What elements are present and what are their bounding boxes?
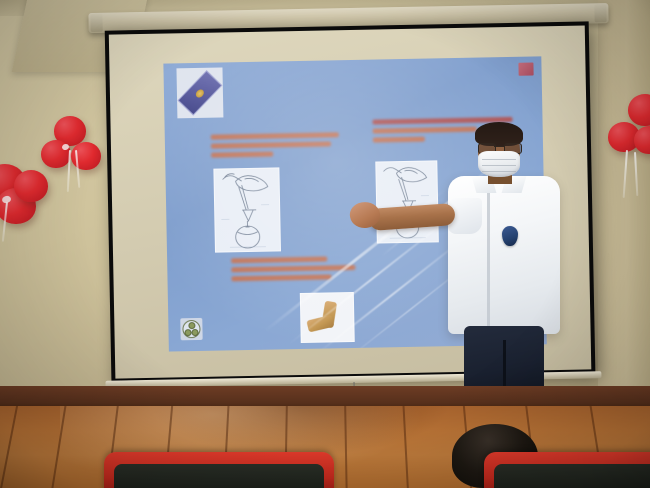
shirt-placket [487, 180, 490, 330]
floor-plank-seam [0, 406, 20, 488]
center-caption-block [231, 256, 355, 285]
chair-seat-back [114, 464, 324, 488]
mask-fold [482, 171, 516, 172]
cork-stoppers-photo [300, 292, 355, 343]
face-mask [478, 151, 520, 177]
text-line [211, 141, 331, 148]
chair-seat-back [494, 464, 650, 488]
text-line [211, 132, 339, 139]
left-heading-block [211, 132, 339, 161]
filtration-diagram-left [213, 167, 281, 252]
text-line [373, 137, 425, 143]
filtration-diagram-svg [376, 161, 438, 242]
chair-front-right[interactable] [484, 452, 650, 488]
molecule-dot [184, 329, 191, 336]
slide-corner-logo [518, 62, 533, 75]
filtration-diagram-svg [214, 168, 280, 251]
molecule-circles-icon [180, 318, 202, 340]
housing-endcap-left [90, 14, 102, 32]
extended-arm [368, 203, 455, 231]
presentation-room-photo [0, 0, 650, 488]
mask-fold [482, 159, 516, 160]
presenter [432, 118, 582, 410]
text-line [231, 274, 331, 281]
filtration-diagram-right [375, 160, 439, 243]
eyeglass-bridge [494, 146, 504, 147]
logo-core [194, 87, 205, 98]
diamond-shape-icon [178, 70, 223, 115]
text-line [231, 265, 355, 272]
projector-glare-streaks [163, 56, 541, 63]
text-line [211, 152, 273, 158]
text-line [231, 256, 327, 263]
housing-endcap-right [594, 4, 606, 22]
chair-front-left[interactable] [104, 452, 334, 488]
cork-stopper [306, 315, 334, 333]
balloon [14, 170, 48, 202]
institution-diamond-logo [176, 67, 223, 118]
molecule-dot [191, 328, 198, 335]
molecule-ring [182, 320, 200, 338]
mask-fold [482, 165, 516, 166]
